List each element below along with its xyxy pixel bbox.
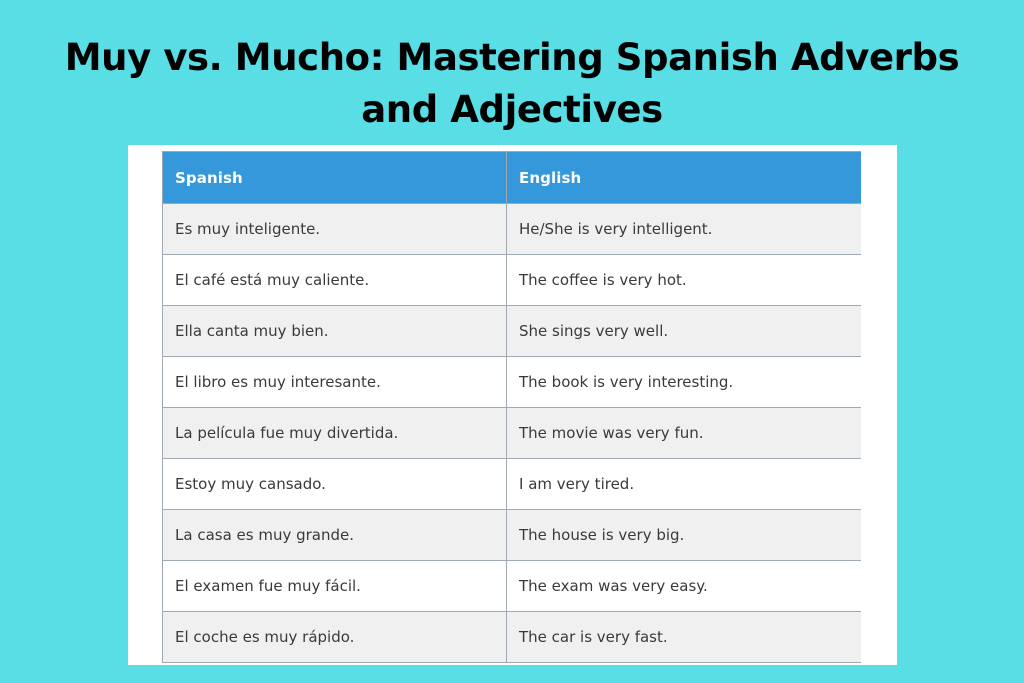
page-root: Muy vs. Mucho: Mastering Spanish Adverbs…	[0, 0, 1024, 683]
table-container: Spanish English Es muy inteligente.He/Sh…	[162, 151, 861, 665]
page-title-line-1: Muy vs. Mucho: Mastering Spanish Adverbs	[0, 32, 1024, 84]
table-header-row: Spanish English	[163, 152, 862, 204]
cell-spanish: Estoy muy cansado.	[163, 459, 507, 510]
table-row: Ella canta muy bien.She sings very well.	[163, 306, 862, 357]
cell-english: I am very tired.	[507, 459, 862, 510]
table-row: Es muy inteligente.He/She is very intell…	[163, 204, 862, 255]
table-row: El café está muy caliente.The coffee is …	[163, 255, 862, 306]
cell-spanish: Ella canta muy bien.	[163, 306, 507, 357]
table-row: El libro es muy interesante.The book is …	[163, 357, 862, 408]
cell-english: The movie was very fun.	[507, 408, 862, 459]
page-title-line-2: and Adjectives	[0, 84, 1024, 136]
table-row: La casa es muy grande.The house is very …	[163, 510, 862, 561]
cell-spanish: La casa es muy grande.	[163, 510, 507, 561]
cell-spanish: Es muy inteligente.	[163, 204, 507, 255]
table-header: Spanish English	[163, 152, 862, 204]
cell-english: The car is very fast.	[507, 612, 862, 663]
table-row: El examen fue muy fácil.The exam was ver…	[163, 561, 862, 612]
page-title: Muy vs. Mucho: Mastering Spanish Adverbs…	[0, 32, 1024, 136]
table-row: La película fue muy divertida.The movie …	[163, 408, 862, 459]
column-header-english: English	[507, 152, 862, 204]
cell-spanish: El coche es muy rápido.	[163, 612, 507, 663]
cell-english: The book is very interesting.	[507, 357, 862, 408]
cell-english: The house is very big.	[507, 510, 862, 561]
cell-english: The coffee is very hot.	[507, 255, 862, 306]
table-row: El coche es muy rápido.The car is very f…	[163, 612, 862, 663]
cell-spanish: El café está muy caliente.	[163, 255, 507, 306]
cell-spanish: El examen fue muy fácil.	[163, 561, 507, 612]
cell-english: The exam was very easy.	[507, 561, 862, 612]
table-row: Estoy muy cansado.I am very tired.	[163, 459, 862, 510]
column-header-spanish: Spanish	[163, 152, 507, 204]
table-body: Es muy inteligente.He/She is very intell…	[163, 204, 862, 663]
cell-english: He/She is very intelligent.	[507, 204, 862, 255]
cell-spanish: La película fue muy divertida.	[163, 408, 507, 459]
cell-english: She sings very well.	[507, 306, 862, 357]
examples-table: Spanish English Es muy inteligente.He/Sh…	[162, 151, 861, 663]
cell-spanish: El libro es muy interesante.	[163, 357, 507, 408]
